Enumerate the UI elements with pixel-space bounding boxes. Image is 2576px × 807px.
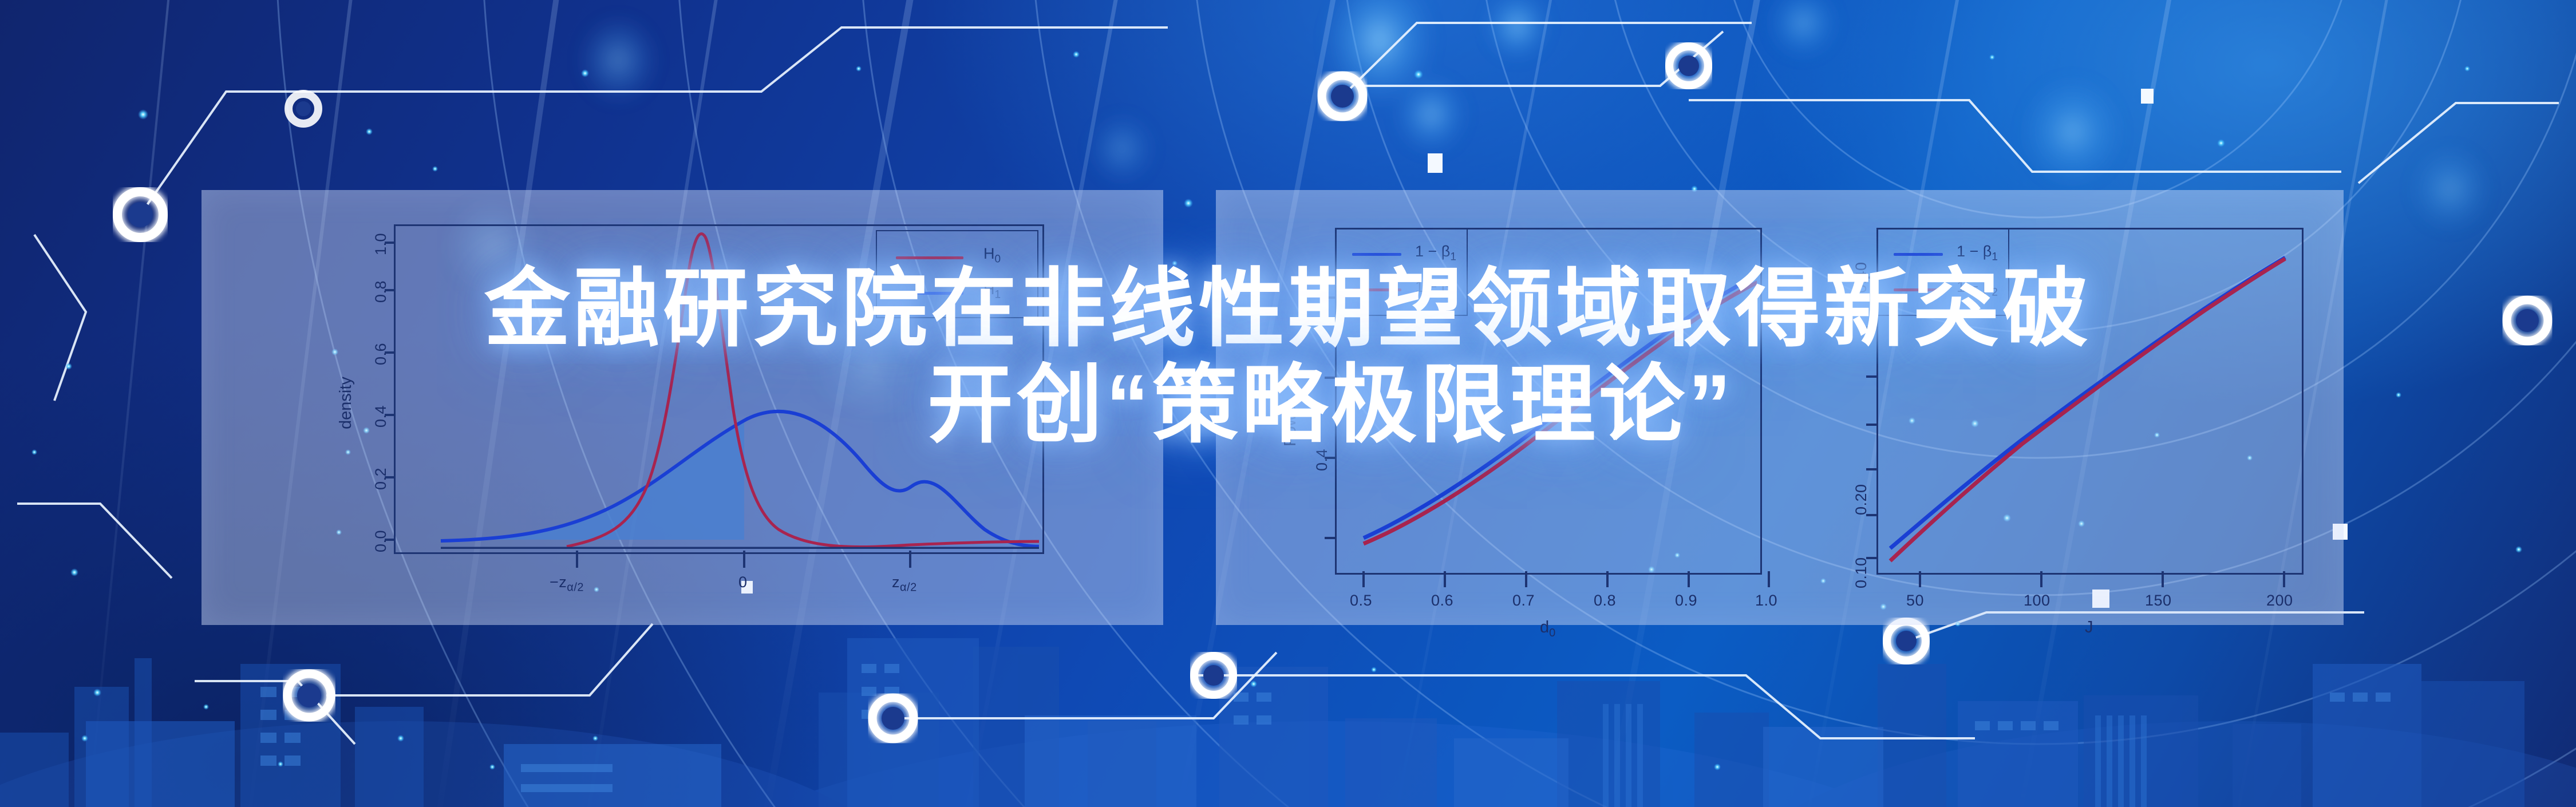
legend-swatch-H0 — [896, 256, 963, 259]
x-tick-label: 1.0 — [1755, 592, 1777, 610]
x-axis-title: d0 — [1540, 618, 1555, 640]
page-title: 金融研究院在非线性期望领域取得新突破 开创“策略极限理论” — [0, 260, 2576, 453]
ring-node — [1322, 76, 1363, 117]
legend-text: 1 − β — [1957, 243, 1992, 260]
x-tick-label: 0.8 — [1594, 592, 1616, 610]
x-tick-label: 50 — [1906, 592, 1924, 610]
x-tick-label: 0.5 — [1350, 592, 1372, 610]
x-tick-label: −zα/2 — [550, 573, 584, 594]
y-tick-label: 0.0 — [372, 530, 390, 552]
y-tick-label: 0.20 — [1852, 484, 1870, 515]
ring-node — [289, 94, 318, 124]
x-tick-label: 200 — [2266, 592, 2293, 610]
legend-swatch-1 — [1352, 253, 1401, 256]
x-tick-sub: α/2 — [567, 581, 584, 594]
x-tick-label: 150 — [2145, 592, 2172, 610]
legend-text: H — [983, 245, 995, 262]
ring-node — [1669, 46, 1708, 85]
x-axis-title: J — [2085, 618, 2093, 637]
y-tick-label: 1.0 — [372, 233, 390, 255]
x-tick-text: z — [892, 573, 900, 591]
title-line-2: 开创“策略极限理论” — [0, 357, 2576, 453]
title-line-1: 金融研究院在非线性期望领域取得新突破 — [0, 260, 2576, 357]
x-tick-label: 100 — [2024, 592, 2050, 610]
ring-node — [1887, 622, 1926, 660]
x-tick-label: 0 — [738, 573, 748, 591]
x-tick-text: −z — [550, 573, 567, 591]
y-tick-label: 0.10 — [1852, 557, 1870, 588]
x-tick-label: 0.9 — [1675, 592, 1697, 610]
x-axis-title-sub: 0 — [1549, 627, 1555, 639]
x-tick-label: 0.7 — [1512, 592, 1535, 610]
ring-node — [872, 698, 914, 739]
ring-node — [287, 674, 331, 717]
x-tick-label: 0.6 — [1431, 592, 1453, 610]
banner-root: 0.0 0.2 0.4 0.6 0.8 1.0 density −zα/2 0 … — [0, 0, 2576, 807]
ring-node — [117, 192, 163, 238]
legend-swatch-1 — [1894, 253, 1943, 256]
x-tick-label: zα/2 — [892, 573, 917, 594]
legend-text: 1 − β — [1415, 243, 1450, 260]
y-tick-label: 0.2 — [372, 468, 390, 490]
x-axis-title-text: d — [1540, 618, 1549, 636]
ring-node — [1194, 656, 1233, 695]
x-tick-sub: α/2 — [900, 581, 917, 594]
